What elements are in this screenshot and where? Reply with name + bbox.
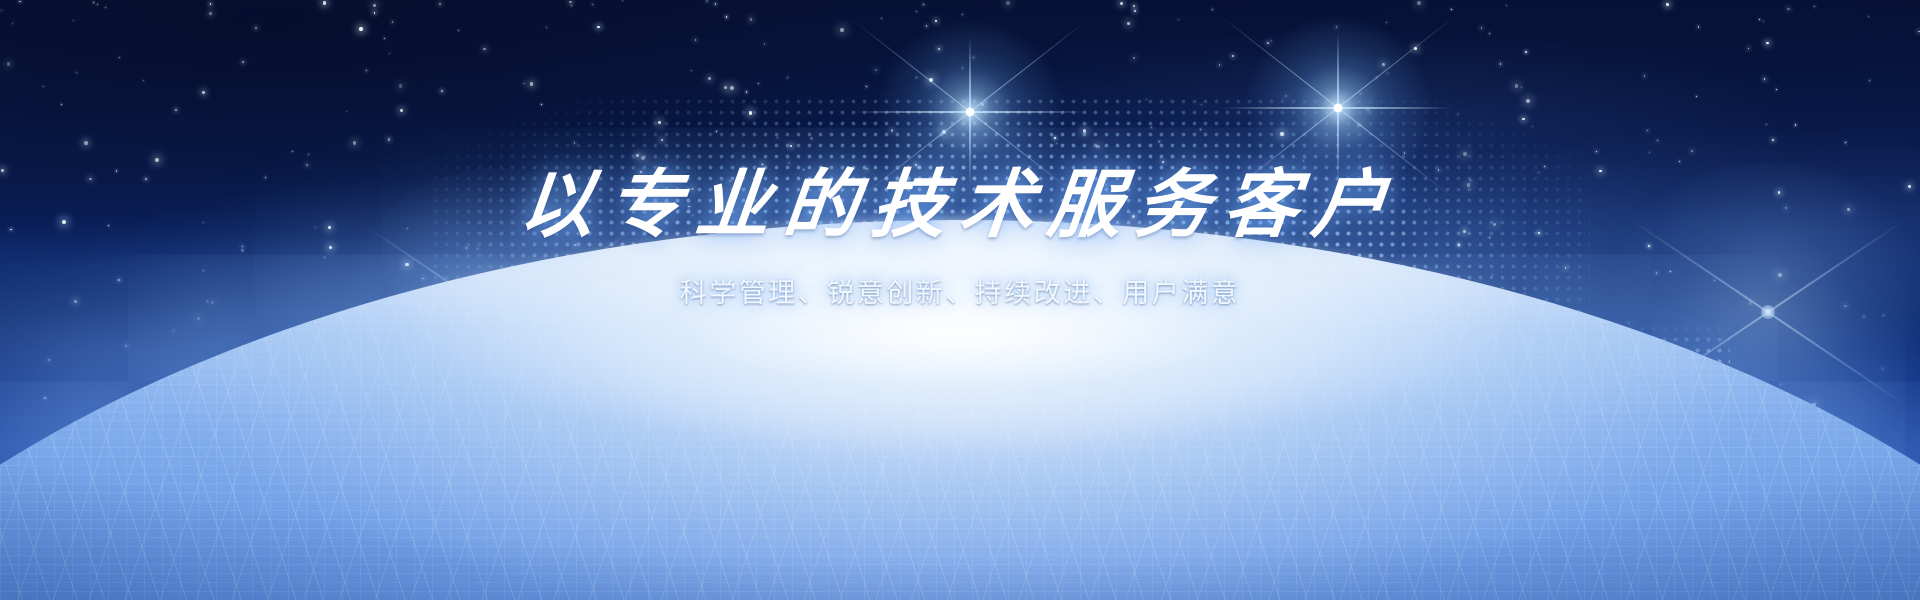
star-dot	[691, 70, 692, 71]
star-dot	[373, 4, 376, 7]
star-dot	[255, 27, 257, 29]
star-dot	[708, 77, 711, 80]
star-dot	[346, 111, 347, 112]
star-dot	[1120, 2, 1123, 5]
star-dot	[1532, 126, 1533, 127]
page-title: 以专业的技术服务客户	[0, 162, 1920, 249]
star-dot	[1869, 80, 1870, 81]
star-dot	[592, 4, 594, 6]
star-dot	[173, 330, 175, 332]
star-dot	[1481, 27, 1483, 29]
star-dot	[726, 16, 728, 18]
star-dot	[962, 14, 963, 15]
star-dot	[574, 142, 576, 144]
star-dot	[202, 91, 205, 94]
star-dot	[1526, 99, 1530, 103]
star-dot	[523, 83, 525, 85]
star-dot	[1083, 129, 1086, 132]
star-dot	[1134, 10, 1136, 12]
star-dot	[323, 1, 326, 4]
star-dot	[1232, 55, 1234, 57]
star-dot	[7, 62, 11, 66]
star-dot	[1868, 16, 1869, 17]
star-dot	[875, 69, 877, 71]
star-dot	[125, 345, 127, 347]
star-dot	[143, 80, 144, 81]
star-dot	[1522, 118, 1525, 121]
star-dot	[1766, 124, 1767, 125]
star-dot	[1500, 63, 1502, 65]
star-dot	[458, 30, 459, 31]
hero-text-block: 以专业的技术服务客户 科学管理、锐意创新、持续改进、用户满意	[0, 162, 1920, 310]
star-dot	[750, 18, 753, 21]
star-dot	[758, 83, 759, 84]
star-dot	[392, 21, 394, 23]
star-dot	[1200, 129, 1201, 130]
star-dot	[1133, 5, 1135, 7]
star-dot	[93, 2, 94, 3]
star-dot	[1219, 64, 1221, 66]
star-dot	[1763, 21, 1764, 22]
star-dot	[209, 12, 212, 15]
star-dot	[790, 145, 792, 147]
flare-core	[966, 108, 975, 117]
star-dot	[530, 82, 533, 85]
star-dot	[73, 20, 74, 21]
star-dot	[1795, 124, 1796, 125]
star-dot	[724, 86, 727, 89]
star-dot	[210, 3, 212, 5]
star-dot	[546, 27, 547, 28]
star-dot	[1417, 1, 1421, 5]
hero-banner: 以专业的技术服务客户 科学管理、锐意创新、持续改进、用户满意	[0, 0, 1920, 600]
star-dot	[175, 109, 177, 111]
star-dot	[1151, 127, 1152, 128]
star-dot	[1127, 22, 1130, 25]
star-dot	[1451, 9, 1452, 10]
star-dot	[787, 77, 788, 78]
star-dot	[777, 137, 778, 138]
star-dot	[1525, 51, 1527, 53]
star-dot	[1644, 75, 1646, 77]
star-dot	[399, 84, 403, 88]
star-dot	[384, 38, 385, 39]
star-dot	[1596, 151, 1597, 152]
star-dot	[1772, 139, 1774, 141]
star-dot	[730, 86, 734, 90]
star-dot	[119, 57, 120, 58]
star-dot	[1457, 114, 1458, 115]
star-dot	[1814, 6, 1815, 7]
star-dot	[916, 11, 917, 12]
star-dot	[1845, 142, 1846, 143]
star-dot	[1698, 26, 1699, 27]
star-dot	[749, 111, 752, 114]
star-dot	[76, 72, 77, 73]
star-dot	[923, 4, 924, 5]
star-dot	[764, 43, 766, 45]
star-dot	[48, 359, 50, 361]
star-dot	[44, 397, 46, 399]
star-dot	[483, 48, 485, 50]
star-dot	[1696, 96, 1697, 97]
star-dot	[1787, 8, 1789, 10]
star-dot	[1776, 89, 1777, 90]
star-dot	[353, 141, 357, 145]
star-dot	[636, 154, 639, 157]
star-dot	[242, 61, 244, 63]
star-dot	[61, 104, 62, 105]
star-dot	[1766, 42, 1769, 45]
star-dot	[1521, 87, 1522, 88]
star-dot	[571, 5, 572, 6]
star-dot	[1764, 78, 1766, 80]
star-dot	[84, 141, 88, 145]
star-dot	[715, 3, 717, 5]
star-dot	[105, 7, 106, 8]
star-dot	[840, 28, 844, 32]
star-dot	[197, 317, 200, 320]
star-dot	[1201, 104, 1202, 105]
star-dot	[706, 0, 708, 2]
star-dot	[1133, 57, 1135, 59]
page-subtitle: 科学管理、锐意创新、持续改进、用户满意	[0, 271, 1920, 310]
star-dot	[12, 23, 13, 24]
star-dot	[641, 156, 645, 160]
star-dot	[597, 26, 600, 29]
star-dot	[1649, 152, 1650, 153]
star-dot	[389, 53, 390, 54]
star-dot	[1178, 19, 1179, 20]
star-dot	[1386, 22, 1387, 23]
star-dot	[19, 1, 21, 3]
star-dot	[1489, 33, 1490, 34]
star-dot	[1159, 141, 1160, 142]
star-dot	[1506, 5, 1507, 6]
star-dot	[366, 70, 367, 71]
star-dot	[1647, 130, 1649, 132]
star-dot	[716, 131, 717, 132]
star-dot	[1691, 150, 1693, 152]
star-dot	[308, 154, 309, 155]
star-dot	[661, 139, 664, 142]
star-dot	[1666, 3, 1669, 6]
star-dot	[569, 1, 571, 3]
star-dot	[1759, 19, 1760, 20]
star-dot	[1146, 99, 1147, 100]
star-dot	[43, 86, 44, 87]
star-dot	[1006, 1, 1010, 5]
flare-core	[1334, 104, 1343, 113]
star-dot	[746, 91, 747, 92]
star-dot	[811, 138, 812, 139]
star-dot	[541, 104, 542, 105]
star-dot	[441, 90, 443, 92]
star-dot	[1, 10, 2, 11]
star-dot	[439, 3, 441, 5]
star-dot	[1515, 84, 1519, 88]
star-dot	[1212, 9, 1213, 10]
star-dot	[695, 39, 697, 41]
star-dot	[359, 27, 363, 31]
star-dot	[1657, 140, 1658, 141]
star-dot	[97, 4, 98, 5]
star-dot	[866, 86, 867, 87]
star-dot	[374, 12, 376, 14]
star-dot	[622, 0, 623, 1]
star-dot	[292, 151, 293, 152]
star-dot	[400, 109, 403, 112]
star-dot	[1463, 152, 1467, 156]
star-dot	[1748, 48, 1750, 50]
star-dot	[388, 138, 390, 140]
star-dot	[881, 18, 882, 19]
star-dot	[658, 121, 661, 124]
star-dot	[1096, 145, 1100, 149]
